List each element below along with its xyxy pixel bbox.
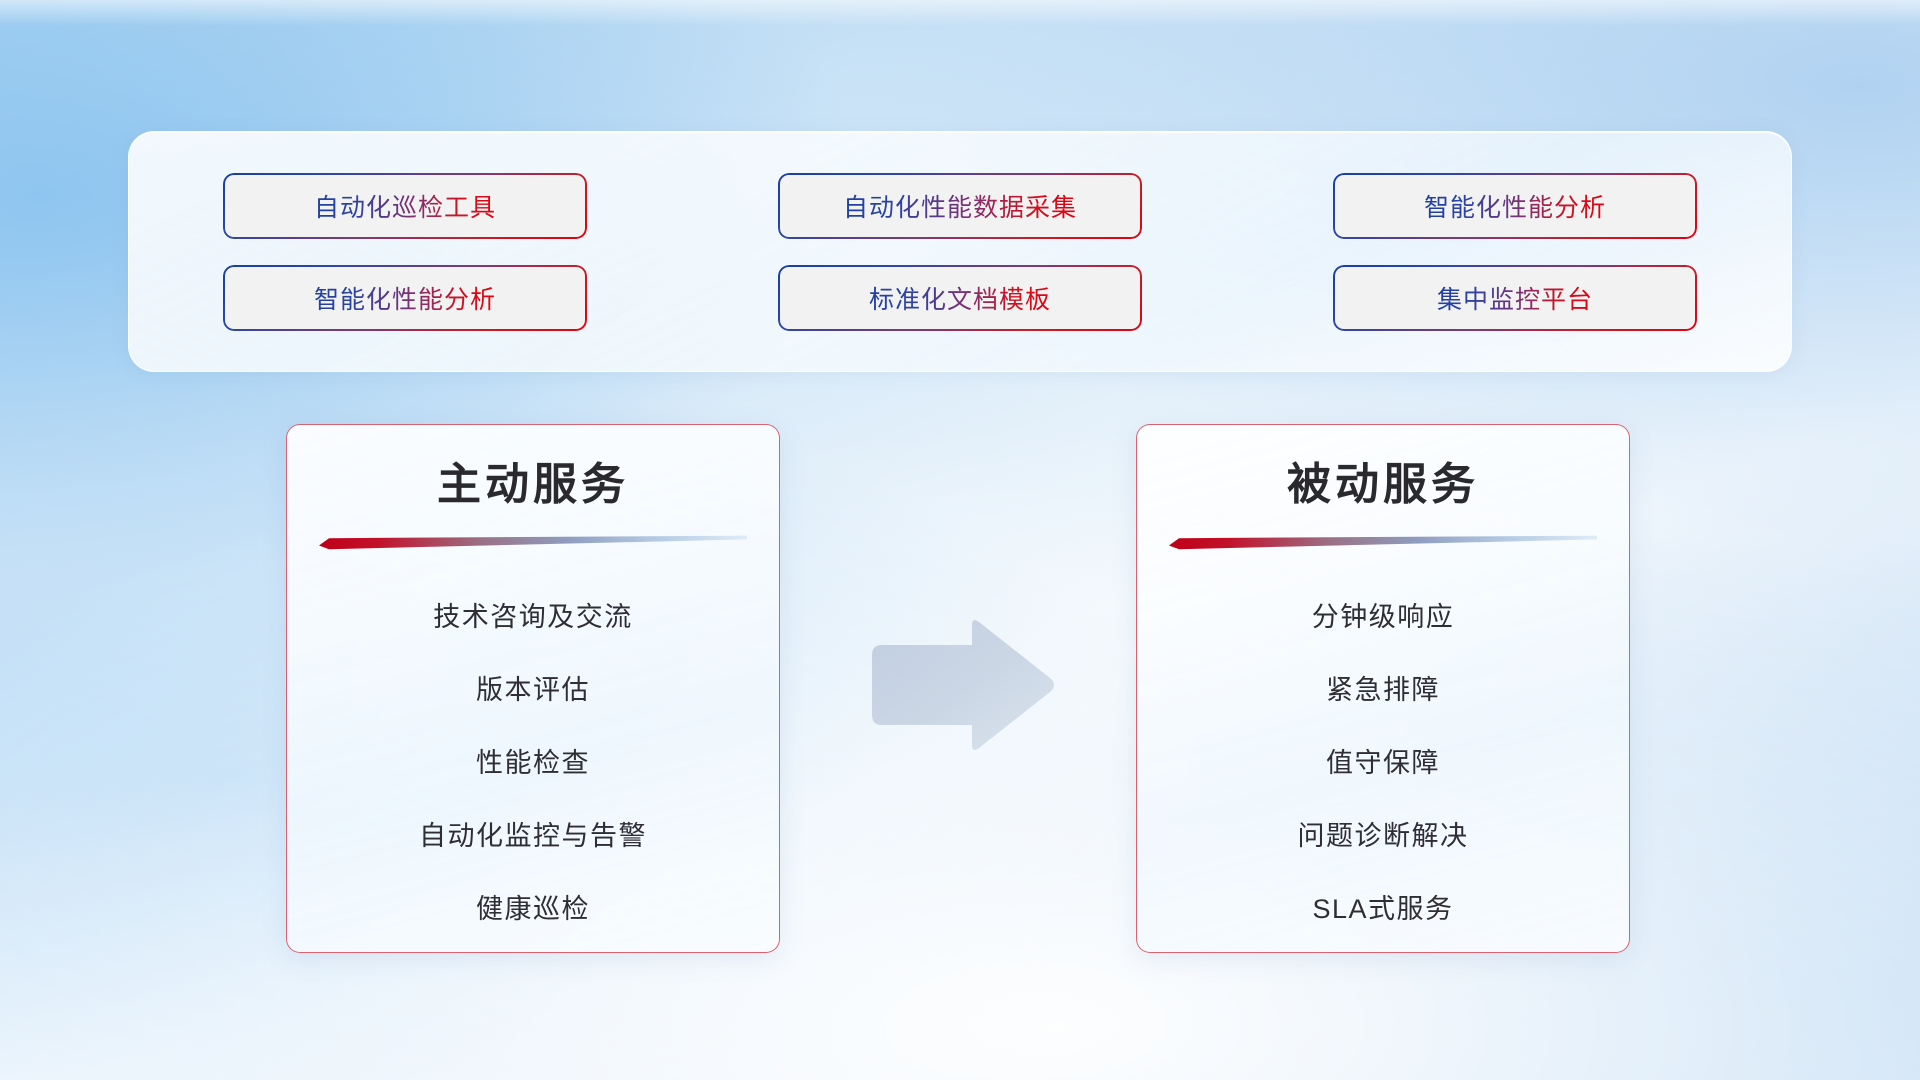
tag-label: 自动化性能数据采集 — [843, 188, 1077, 224]
tag-chip-intelligent-performance-analysis-b[interactable]: 智能化性能分析 — [225, 267, 585, 329]
tag-chip-automated-inspection-tool[interactable]: 自动化巡检工具 — [225, 175, 585, 237]
card-proactive-service: 主动服务 技术咨询及交流 版本评估 性能检查 — [286, 424, 780, 953]
card-item-list: 分钟级响应 紧急排障 值守保障 问题诊断解决 SLA式服务 — [1171, 581, 1595, 946]
tag-chip-centralized-monitoring-platform[interactable]: 集中监控平台 — [1335, 267, 1695, 329]
card-title: 主动服务 — [437, 461, 629, 509]
service-comparison-stage: 主动服务 技术咨询及交流 版本评估 性能检查 — [0, 420, 1920, 980]
tag-row-1: 自动化巡检工具 自动化性能数据采集 智能化性能分析 — [225, 175, 1695, 237]
tag-label: 智能化性能分析 — [314, 280, 496, 316]
tag-label: 智能化性能分析 — [1424, 188, 1606, 224]
card-title: 被动服务 — [1287, 461, 1479, 509]
list-item: 分钟级响应 — [1312, 581, 1455, 654]
tag-row-2: 智能化性能分析 标准化文档模板 集中监控平台 — [225, 267, 1695, 329]
tag-chip-intelligent-performance-analysis-a[interactable]: 智能化性能分析 — [1335, 175, 1695, 237]
card-divider — [1169, 535, 1597, 551]
tag-label: 集中监控平台 — [1437, 280, 1593, 316]
tag-chip-standardized-document-template[interactable]: 标准化文档模板 — [780, 267, 1140, 329]
card-divider — [319, 535, 747, 551]
list-item: 问题诊断解决 — [1298, 800, 1469, 873]
tag-label: 自动化巡检工具 — [314, 188, 496, 224]
tag-label: 标准化文档模板 — [869, 280, 1051, 316]
right-arrow-icon — [862, 615, 1062, 755]
list-item: 健康巡检 — [476, 873, 590, 946]
card-item-list: 技术咨询及交流 版本评估 性能检查 自动化监控与告警 健康巡检 — [321, 581, 745, 946]
list-item: 版本评估 — [476, 654, 590, 727]
tag-chip-automated-performance-data-collection[interactable]: 自动化性能数据采集 — [780, 175, 1140, 237]
card-reactive-service: 被动服务 分钟级响应 紧急排障 值守保障 — [1136, 424, 1630, 953]
list-item: 性能检查 — [476, 727, 590, 800]
list-item: 值守保障 — [1326, 727, 1440, 800]
capability-tag-panel: 自动化巡检工具 自动化性能数据采集 智能化性能分析 智能化性能分析 标准化文档模… — [128, 131, 1792, 372]
list-item: 技术咨询及交流 — [433, 581, 633, 654]
list-item: 自动化监控与告警 — [419, 800, 647, 873]
list-item: SLA式服务 — [1312, 873, 1453, 946]
list-item: 紧急排障 — [1326, 654, 1440, 727]
